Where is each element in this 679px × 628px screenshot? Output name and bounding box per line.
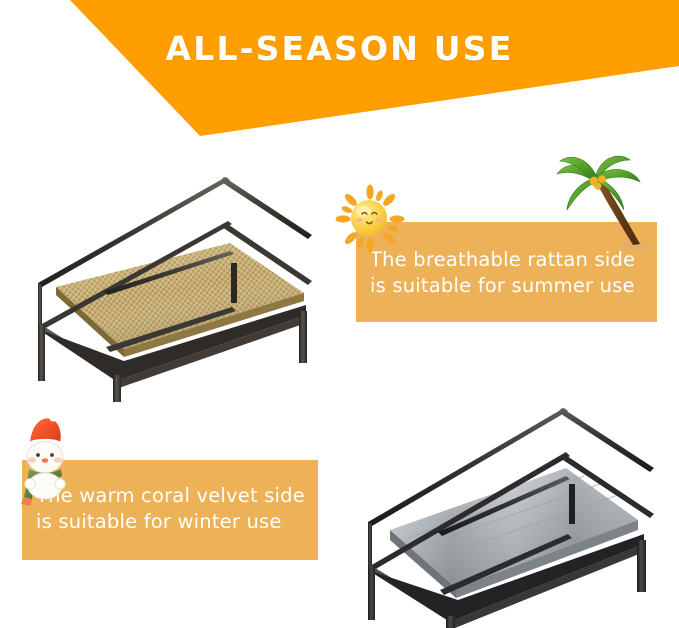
product-image-rattan-bed bbox=[16, 165, 326, 402]
palm-tree-icon bbox=[550, 152, 654, 254]
sun-icon bbox=[334, 183, 406, 255]
header-banner bbox=[0, 0, 679, 150]
callout-winter-line2: is suitable for winter use bbox=[36, 509, 305, 535]
infographic-page: ALL-SEASON USE bbox=[0, 0, 679, 628]
product-image-velvet-bed bbox=[338, 398, 672, 628]
snowman-icon bbox=[8, 412, 86, 508]
callout-summer-line2: is suitable for summer use bbox=[370, 273, 635, 299]
page-title: ALL-SEASON USE bbox=[0, 29, 679, 68]
